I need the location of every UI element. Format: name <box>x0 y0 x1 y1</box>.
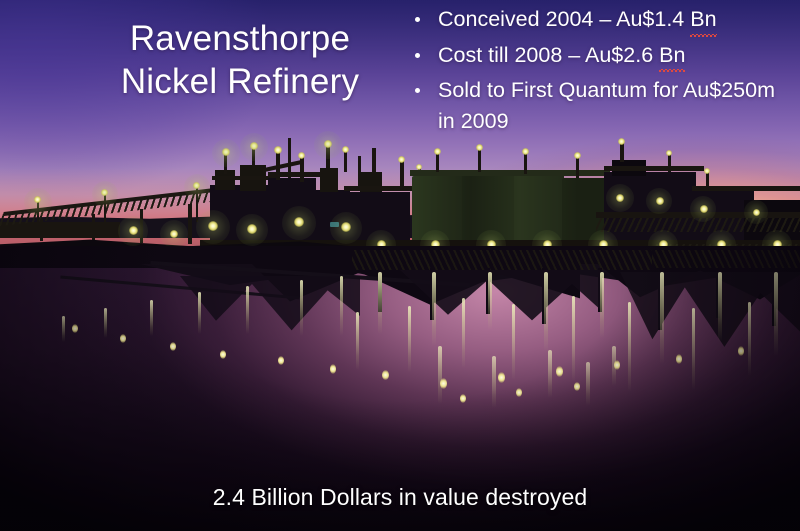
spellcheck-word-2: Bn <box>659 40 685 71</box>
bullet-text-1: Conceived 2004 – Au$1.4 <box>438 7 690 31</box>
title-line-2: Nickel Refinery <box>60 61 420 104</box>
slide-caption: 2.4 Billion Dollars in value destroyed <box>0 484 800 511</box>
spellcheck-word-1: Bn <box>690 4 716 35</box>
slide-title: Ravensthorpe Nickel Refinery <box>60 18 420 103</box>
title-line-1: Ravensthorpe <box>60 18 420 61</box>
bullet-item-3: Sold to First Quantum for Au$250m in 200… <box>404 75 796 136</box>
bullet-text-3: Sold to First Quantum for Au$250m in 200… <box>438 78 775 133</box>
bullet-list: Conceived 2004 – Au$1.4 Bn Cost till 200… <box>404 4 796 141</box>
bullet-item-2: Cost till 2008 – Au$2.6 Bn <box>404 40 796 71</box>
slide-canvas: Ravensthorpe Nickel Refinery Conceived 2… <box>0 0 800 531</box>
bullet-text-2: Cost till 2008 – Au$2.6 <box>438 43 659 67</box>
bullet-item-1: Conceived 2004 – Au$1.4 Bn <box>404 4 796 35</box>
